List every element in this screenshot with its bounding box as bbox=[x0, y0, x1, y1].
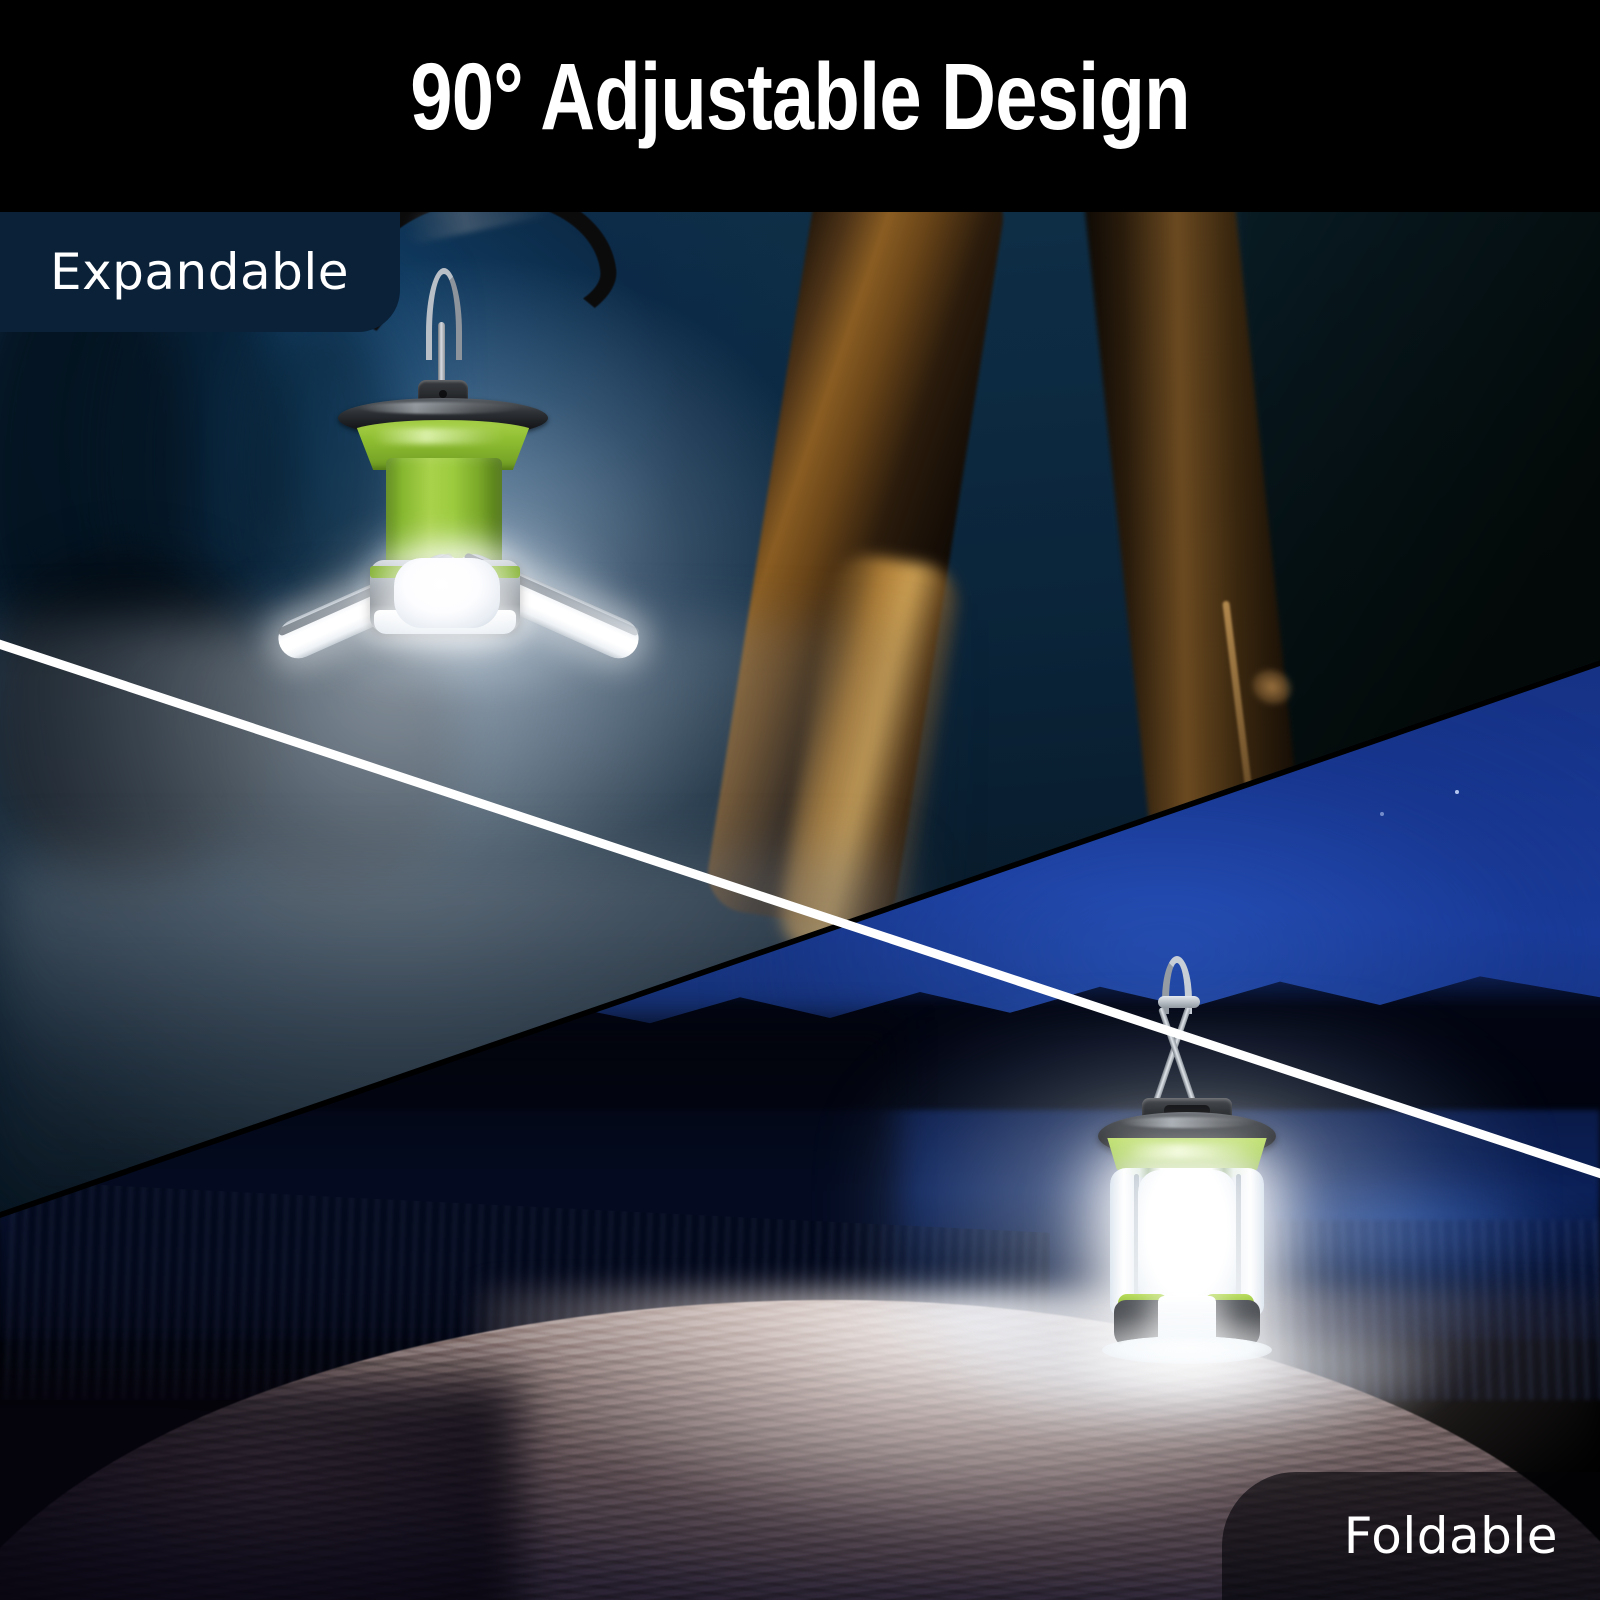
hook-bail-top bbox=[1158, 996, 1200, 1008]
ground-light-pool bbox=[942, 1328, 1442, 1438]
star bbox=[1310, 760, 1314, 764]
page-title: 90° Adjustable Design bbox=[160, 50, 1440, 145]
badge-expandable-label: Expandable bbox=[0, 243, 349, 301]
lantern-green-ring-highlight bbox=[1128, 1144, 1248, 1158]
lantern-top-cap-highlight bbox=[358, 402, 523, 414]
lantern-center-lens bbox=[394, 558, 500, 628]
lantern-flange-highlight bbox=[374, 428, 504, 444]
badge-foldable-label: Foldable bbox=[1344, 1507, 1600, 1565]
rock-shadow-left bbox=[0, 1380, 520, 1600]
badge-expandable: Expandable bbox=[0, 212, 400, 332]
star bbox=[1455, 790, 1459, 794]
star bbox=[1380, 812, 1384, 816]
title-banner: 90° Adjustable Design bbox=[0, 0, 1600, 212]
hook-bail-right bbox=[1158, 1007, 1199, 1111]
product-infographic: 90° Adjustable Design Expandable Foldabl… bbox=[0, 0, 1600, 1600]
led-panel-seam-right bbox=[1236, 1174, 1241, 1308]
led-panel-center bbox=[1138, 1170, 1236, 1312]
lantern-folded[interactable] bbox=[1062, 956, 1312, 1346]
lantern-top-cap-highlight bbox=[1120, 1117, 1256, 1128]
badge-foldable: Foldable bbox=[1222, 1472, 1600, 1600]
